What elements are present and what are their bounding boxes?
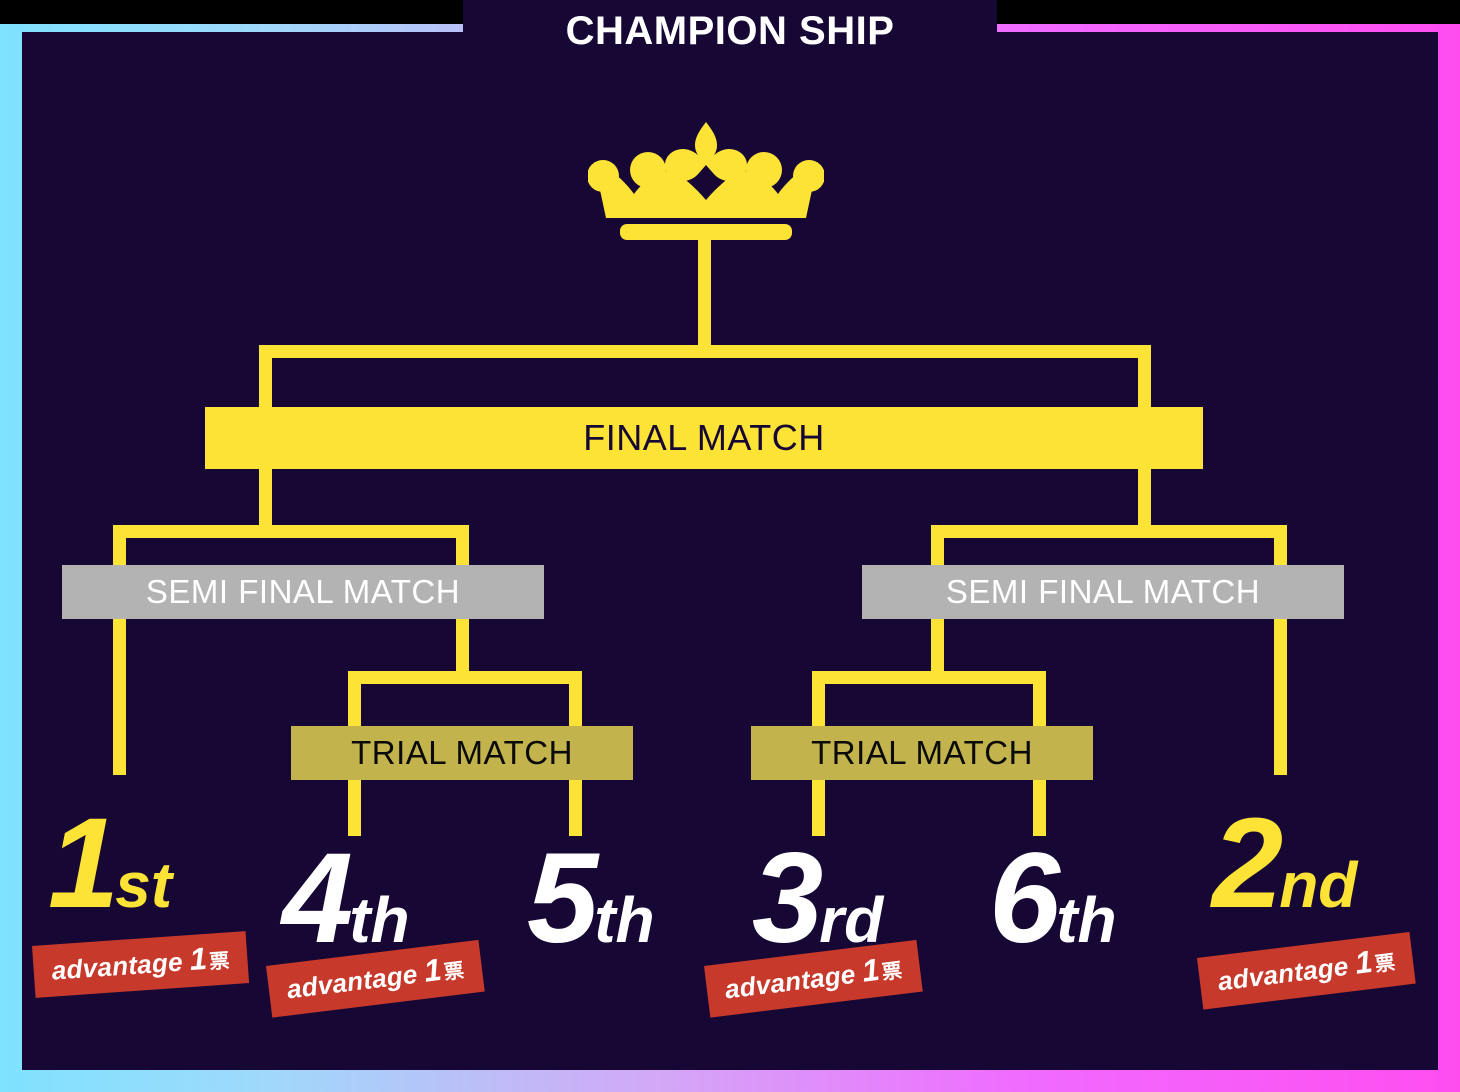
advantage-label-1: advantage — [51, 947, 184, 986]
championship-bracket-page: CHAMPION SHIP — [0, 0, 1460, 1092]
rank-number-1: 1 — [48, 792, 117, 935]
rank-number-3: 3 — [752, 827, 821, 970]
semi-final-match-box-right[interactable]: SEMI FINAL MATCH — [862, 565, 1344, 619]
advantage-unit-4: 票 — [443, 960, 466, 984]
line-right-trial-horizontal — [812, 671, 1046, 684]
advantage-label-4: advantage — [285, 959, 419, 1005]
final-match-label: FINAL MATCH — [583, 417, 825, 459]
rank-suffix-1: st — [115, 849, 172, 921]
rank-suffix-6: th — [1056, 884, 1116, 956]
line-seed1-drop — [113, 525, 126, 775]
rank-number-2: 2 — [1212, 792, 1281, 935]
line-final-right-drop — [1138, 345, 1151, 415]
advantage-unit-1: 票 — [209, 950, 231, 973]
rank-suffix-5: th — [594, 884, 654, 956]
line-final-left-drop — [259, 345, 272, 415]
rank-seed-2[interactable]: 2nd — [1212, 800, 1357, 928]
crown-icon — [588, 118, 824, 240]
trial-match-box-left[interactable]: TRIAL MATCH — [291, 726, 633, 780]
advantage-unit-2: 票 — [1374, 952, 1397, 976]
line-crown-stem — [698, 240, 711, 352]
rank-suffix-4: th — [349, 884, 409, 956]
rank-number-6: 6 — [989, 827, 1058, 970]
rank-seed-3[interactable]: 3rd — [752, 835, 883, 963]
line-right-final-stem — [1138, 462, 1151, 530]
trial-match-box-right[interactable]: TRIAL MATCH — [751, 726, 1093, 780]
advantage-count-1: 1 — [188, 941, 208, 977]
trial-match-label-right: TRIAL MATCH — [811, 734, 1033, 772]
advantage-unit-3: 票 — [881, 960, 904, 984]
rank-seed-4[interactable]: 4th — [282, 835, 410, 963]
advantage-count-4: 1 — [422, 952, 444, 989]
semi-final-match-label-left: SEMI FINAL MATCH — [146, 573, 460, 611]
rank-seed-6[interactable]: 6th — [989, 835, 1117, 963]
line-seed2-drop — [1274, 525, 1287, 775]
line-left-final-stem — [259, 462, 272, 530]
line-right-semi-horizontal — [931, 525, 1287, 538]
semi-final-match-box-left[interactable]: SEMI FINAL MATCH — [62, 565, 544, 619]
rank-number-4: 4 — [282, 827, 351, 970]
advantage-label-3: advantage — [723, 959, 857, 1005]
final-match-box[interactable]: FINAL MATCH — [205, 407, 1203, 469]
line-final-top-horizontal — [259, 345, 1151, 358]
page-title: CHAMPION SHIP — [463, 7, 997, 55]
rank-suffix-2: nd — [1279, 849, 1357, 921]
advantage-count-3: 1 — [860, 952, 882, 989]
advantage-count-2: 1 — [1353, 944, 1375, 981]
advantage-label-2: advantage — [1216, 951, 1350, 997]
line-left-trial-horizontal — [348, 671, 582, 684]
line-left-semi-horizontal — [113, 525, 469, 538]
rank-seed-1[interactable]: 1st — [48, 800, 172, 928]
trial-match-label-left: TRIAL MATCH — [351, 734, 573, 772]
semi-final-match-label-right: SEMI FINAL MATCH — [946, 573, 1260, 611]
rank-seed-5[interactable]: 5th — [527, 835, 655, 963]
rank-number-5: 5 — [527, 827, 596, 970]
